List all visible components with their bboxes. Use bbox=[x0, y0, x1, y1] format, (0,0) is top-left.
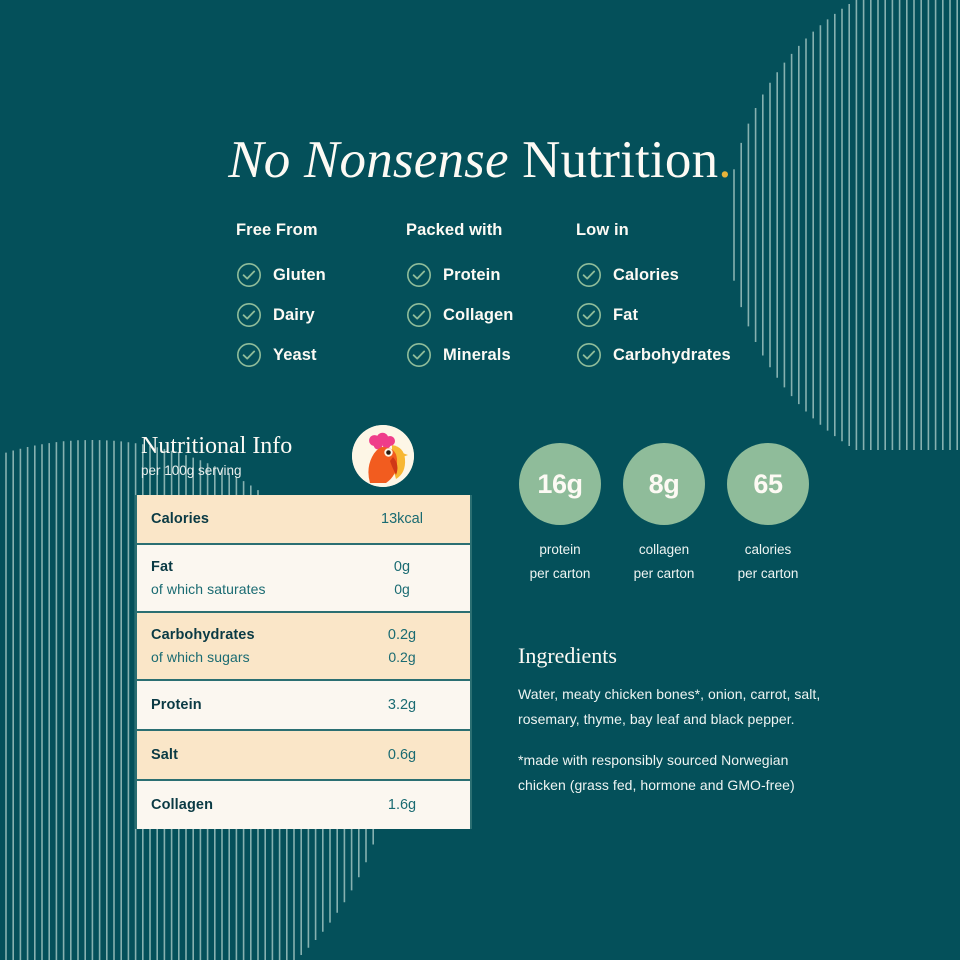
nutrition-title: Nutritional Info bbox=[141, 433, 491, 459]
table-cell-label: Collagen bbox=[151, 794, 356, 816]
ingredients-paragraph: Water, meaty chicken bones*, onion, carr… bbox=[518, 682, 828, 731]
benefit-heading: Packed with bbox=[406, 221, 576, 240]
table-row: Collagen 1.6g bbox=[137, 781, 470, 829]
table-row: Carbohydrates of which sugars 0.2g 0.2g bbox=[137, 613, 470, 681]
row-label: Salt bbox=[151, 744, 356, 766]
table-cell-label: Carbohydrates of which sugars bbox=[151, 624, 356, 668]
page-title: No Nonsense Nutrition. bbox=[0, 134, 960, 187]
check-circle-icon bbox=[576, 302, 602, 328]
stat-caption-line2: per carton bbox=[519, 562, 601, 586]
benefit-item-label: Fat bbox=[613, 306, 638, 325]
benefit-item-fat: Fat bbox=[576, 295, 746, 335]
table-cell-value: 1.6g bbox=[356, 794, 448, 816]
row-sub-value: 0.2g bbox=[356, 646, 448, 668]
row-label: Calories bbox=[151, 508, 356, 530]
check-circle-icon bbox=[236, 302, 262, 328]
stat-caption: calories per carton bbox=[727, 538, 809, 586]
stat-circle: 65 bbox=[727, 443, 809, 525]
stat-number: 16g bbox=[537, 469, 582, 500]
ingredients-section: Ingredients Water, meaty chicken bones*,… bbox=[518, 643, 828, 797]
row-value: 0g bbox=[356, 556, 448, 578]
page-title-regular: Nutrition bbox=[522, 131, 718, 189]
stat-circle: 8g bbox=[623, 443, 705, 525]
row-label: Fat bbox=[151, 556, 356, 578]
table-cell-value: 0.6g bbox=[356, 744, 448, 766]
row-label: Carbohydrates bbox=[151, 624, 356, 646]
row-sub-label: of which sugars bbox=[151, 646, 356, 668]
table-cell-value: 0.2g 0.2g bbox=[356, 624, 448, 668]
stat-caption: collagen per carton bbox=[623, 538, 705, 586]
benefit-item-label: Collagen bbox=[443, 306, 513, 325]
stat-collagen: 8g collagen per carton bbox=[623, 443, 705, 586]
benefits-section: Free From Gluten Dairy Yeast Packed with… bbox=[236, 221, 796, 375]
benefit-item-protein: Protein bbox=[406, 255, 576, 295]
benefit-column-low-in: Low in Calories Fat Carbohydrates bbox=[576, 221, 746, 375]
stat-caption-line2: per carton bbox=[727, 562, 809, 586]
row-sub-label: of which saturates bbox=[151, 578, 356, 600]
page-title-italic: No Nonsense bbox=[228, 131, 508, 189]
check-circle-icon bbox=[406, 342, 432, 368]
row-sub-value: 0g bbox=[356, 578, 448, 600]
page-title-period: . bbox=[718, 131, 731, 189]
benefit-item-dairy: Dairy bbox=[236, 295, 406, 335]
benefit-item-collagen: Collagen bbox=[406, 295, 576, 335]
benefit-item-label: Calories bbox=[613, 266, 679, 285]
table-row: Protein 3.2g bbox=[137, 681, 470, 731]
stat-caption-line2: per carton bbox=[623, 562, 705, 586]
nutrition-subtitle: per 100g serving bbox=[141, 463, 491, 478]
row-value: 3.2g bbox=[356, 694, 448, 716]
check-circle-icon bbox=[406, 302, 432, 328]
nutrition-header: Nutritional Info per 100g serving bbox=[141, 433, 491, 478]
check-circle-icon bbox=[236, 262, 262, 288]
benefit-item-carbohydrates: Carbohydrates bbox=[576, 335, 746, 375]
row-label: Collagen bbox=[151, 794, 356, 816]
stats-section: 16g protein per carton 8g collagen per c… bbox=[519, 443, 809, 586]
check-circle-icon bbox=[236, 342, 262, 368]
row-label: Protein bbox=[151, 694, 356, 716]
stat-calories: 65 calories per carton bbox=[727, 443, 809, 586]
table-cell-value: 0g 0g bbox=[356, 556, 448, 600]
check-circle-icon bbox=[406, 262, 432, 288]
benefit-item-label: Dairy bbox=[273, 306, 315, 325]
table-row: Calories 13kcal bbox=[137, 495, 470, 545]
benefit-item-label: Protein bbox=[443, 266, 501, 285]
table-cell-label: Salt bbox=[151, 744, 356, 766]
ingredients-footnote: *made with responsibly sourced Norwegian… bbox=[518, 748, 828, 797]
benefit-item-yeast: Yeast bbox=[236, 335, 406, 375]
benefit-heading: Low in bbox=[576, 221, 746, 240]
stat-caption-line1: calories bbox=[727, 538, 809, 562]
nutrition-table: Calories 13kcal Fat of which saturates 0… bbox=[135, 495, 472, 829]
row-value: 0.2g bbox=[356, 624, 448, 646]
ingredients-title: Ingredients bbox=[518, 643, 828, 669]
benefit-column-packed-with: Packed with Protein Collagen Minerals bbox=[406, 221, 576, 375]
table-cell-label: Protein bbox=[151, 694, 356, 716]
check-circle-icon bbox=[576, 342, 602, 368]
table-cell-value: 3.2g bbox=[356, 694, 448, 716]
check-circle-icon bbox=[576, 262, 602, 288]
title-block: No Nonsense Nutrition. bbox=[0, 134, 960, 187]
stat-caption-line1: collagen bbox=[623, 538, 705, 562]
table-cell-label: Calories bbox=[151, 508, 356, 530]
row-value: 0.6g bbox=[356, 744, 448, 766]
table-row: Fat of which saturates 0g 0g bbox=[137, 545, 470, 613]
benefit-item-label: Minerals bbox=[443, 346, 511, 365]
stat-number: 8g bbox=[649, 469, 680, 500]
benefit-item-minerals: Minerals bbox=[406, 335, 576, 375]
benefit-heading: Free From bbox=[236, 221, 406, 240]
chicken-logo-icon bbox=[352, 425, 414, 487]
benefit-item-label: Yeast bbox=[273, 346, 317, 365]
table-row: Salt 0.6g bbox=[137, 731, 470, 781]
benefit-item-calories: Calories bbox=[576, 255, 746, 295]
stat-caption-line1: protein bbox=[519, 538, 601, 562]
table-cell-value: 13kcal bbox=[356, 508, 448, 530]
row-value: 13kcal bbox=[356, 508, 448, 530]
benefit-item-label: Carbohydrates bbox=[613, 346, 731, 365]
row-value: 1.6g bbox=[356, 794, 448, 816]
benefit-column-free-from: Free From Gluten Dairy Yeast bbox=[236, 221, 406, 375]
stat-circle: 16g bbox=[519, 443, 601, 525]
stat-caption: protein per carton bbox=[519, 538, 601, 586]
table-cell-label: Fat of which saturates bbox=[151, 556, 356, 600]
stat-protein: 16g protein per carton bbox=[519, 443, 601, 586]
benefit-item-label: Gluten bbox=[273, 266, 326, 285]
stat-number: 65 bbox=[753, 469, 782, 500]
benefit-item-gluten: Gluten bbox=[236, 255, 406, 295]
